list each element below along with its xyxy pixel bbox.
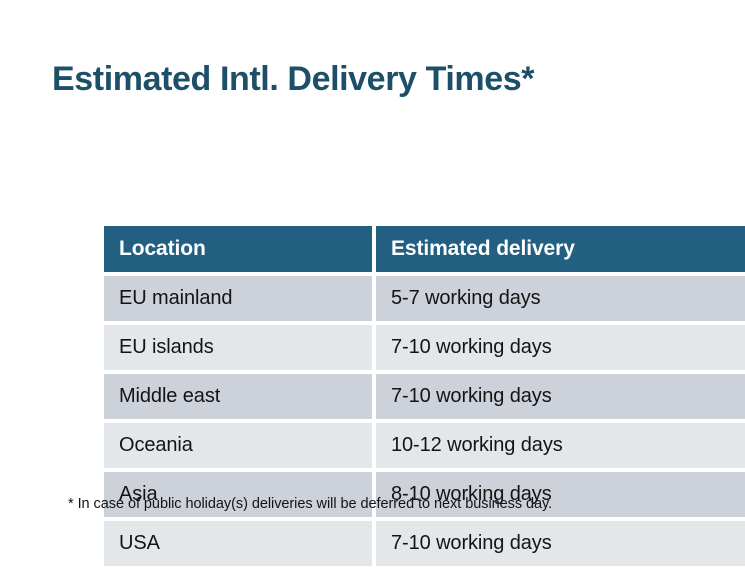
cell-delivery: 10-12 working days [376,423,745,468]
table-header-row: Location Estimated delivery [104,226,745,272]
table-row: EU mainland 5-7 working days [104,276,745,321]
table-header: Location Estimated delivery [104,226,745,272]
cell-delivery: 7-10 working days [376,325,745,370]
table-row: EU islands 7-10 working days [104,325,745,370]
page-title: Estimated Intl. Delivery Times* [52,59,534,100]
cell-location: Oceania [104,423,372,468]
cell-location: USA [104,521,372,566]
table-row: USA 7-10 working days [104,521,745,566]
column-header-estimated-delivery: Estimated delivery [376,226,745,272]
table-row: Middle east 7-10 working days [104,374,745,419]
table-body: EU mainland 5-7 working days EU islands … [104,276,745,566]
cell-delivery: 7-10 working days [376,374,745,419]
cell-delivery: 5-7 working days [376,276,745,321]
cell-location: Middle east [104,374,372,419]
column-header-location: Location [104,226,372,272]
cell-location: EU mainland [104,276,372,321]
table-row: Oceania 10-12 working days [104,423,745,468]
footnote-text: * In case of public holiday(s) deliverie… [68,496,552,512]
delivery-times-page: Estimated Intl. Delivery Times* Location… [0,0,745,536]
cell-location: EU islands [104,325,372,370]
estimated-delivery-times-table: Location Estimated delivery EU mainland … [100,222,745,570]
cell-delivery: 7-10 working days [376,521,745,566]
